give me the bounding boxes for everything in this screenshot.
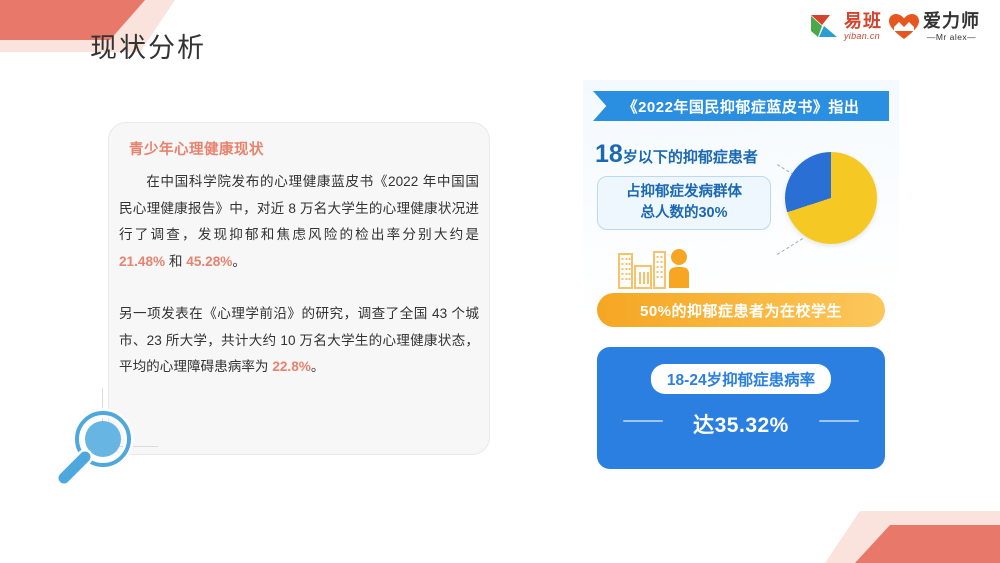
stat-text: 岁以下的抑郁症患者 [623,149,758,166]
yiban-cn-label: 易班 [844,12,882,30]
percent-pill-box: 占抑郁症发病群体 总人数的30% [597,176,771,230]
paragraph-spacer [119,275,479,301]
slide-root: 现状分析 易班 yiban.cn 爱力师 —Mr alex— [0,0,1000,563]
infographic-ribbon-title: 《2022年国民抑郁症蓝皮书》指出 [593,91,889,121]
infographic-panel: 《2022年国民抑郁症蓝皮书》指出 18岁以下的抑郁症患者 占抑郁症发病群体 总… [583,80,899,486]
paragraph-2: 另一项发表在《心理学前沿》的研究，调查了全国 43 个城市、23 所大学，共计大… [119,301,479,381]
card-heading: 青少年心理健康现状 [129,138,264,159]
mr-alex-text: 爱力师 —Mr alex— [923,12,980,42]
paragraph-2-end: 。 [311,359,325,374]
highlight-22-8: 22.8% [272,359,311,374]
card-body: 在中国科学院发布的心理健康蓝皮书《2022 年中国国民心理健康报告》中，对近 8… [119,169,479,381]
highlight-21-48: 21.48% [119,254,165,269]
highlight-45-28: 45.28% [186,254,232,269]
magnifier-icon [40,388,155,503]
buildings-person-icons [617,248,695,290]
stat-number: 18 [595,140,623,168]
pill-line-2: 总人数的30% [640,203,727,224]
orange-stat-bar: 50%的抑郁症患者为在校学生 [597,293,885,327]
paragraph-1-mid: 和 [165,254,186,269]
pie-leader-line-bottom [777,238,803,255]
yiban-en-label: yiban.cn [844,32,882,41]
blue-card-pill-label: 18-24岁抑郁症患病率 [651,364,831,394]
person-icon [669,249,689,288]
mr-alex-cn-label: 爱力师 [923,12,980,30]
logo-yiban: 易班 yiban.cn [810,12,882,41]
stat-headline: 18岁以下的抑郁症患者 [595,140,758,169]
mr-alex-en-label: —Mr alex— [927,33,976,42]
heart-icon [889,14,919,40]
paragraph-1: 在中国科学院发布的心理健康蓝皮书《2022 年中国国民心理健康报告》中，对近 8… [119,169,479,275]
yiban-mark-icon [810,13,840,40]
pill-line-1: 占抑郁症发病群体 [626,182,742,203]
magnifier-decoration [40,388,155,503]
pie-chart-circle [785,152,877,244]
logo-mr-alex: 爱力师 —Mr alex— [889,12,980,42]
yiban-text: 易班 yiban.cn [844,12,882,41]
logo-area: 易班 yiban.cn 爱力师 —Mr alex— [810,12,980,42]
blue-stat-card: 18-24岁抑郁症患病率 达35.32% [597,347,885,469]
paragraph-1-text: 在中国科学院发布的心理健康蓝皮书《2022 年中国国民心理健康报告》中，对近 8… [119,174,479,242]
content-card: 青少年心理健康现状 在中国科学院发布的心理健康蓝皮书《2022 年中国国民心理健… [108,122,490,455]
page-title: 现状分析 [90,26,206,65]
pie-chart [769,142,887,260]
blue-card-value: 达35.32% [597,409,885,439]
paragraph-1-end: 。 [232,254,246,269]
